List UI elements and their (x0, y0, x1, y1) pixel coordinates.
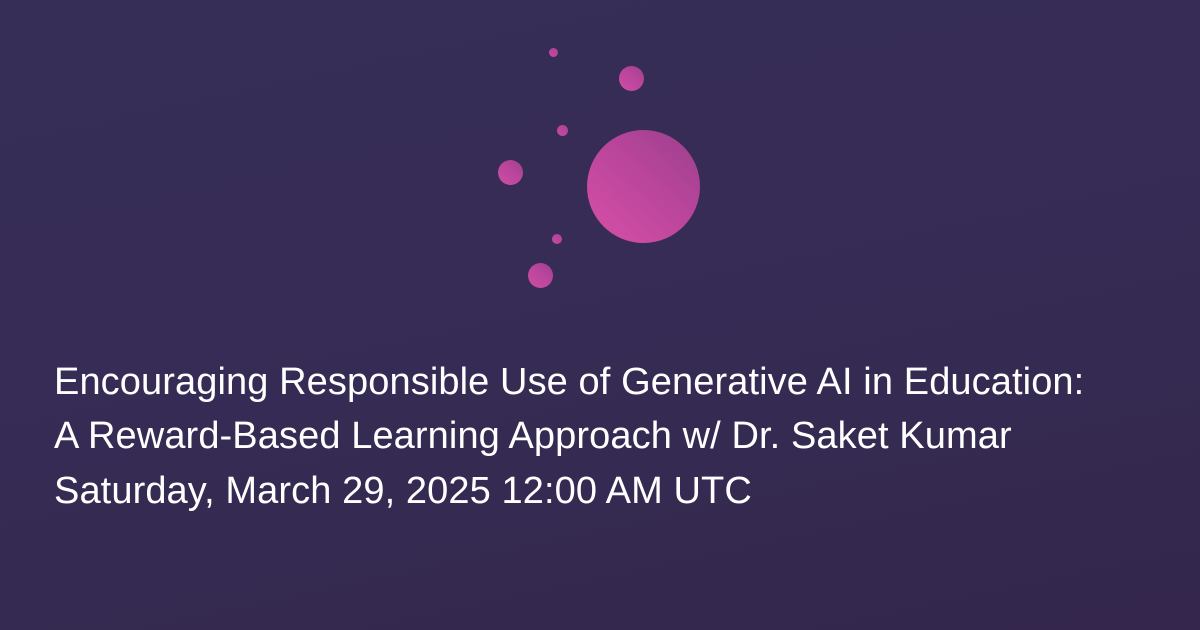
bubble-dot-top-icon (549, 48, 558, 57)
bubble-dot-middle-icon (557, 125, 568, 136)
event-title: Encouraging Responsible Use of Generativ… (54, 355, 1089, 463)
bubble-main-icon (587, 130, 700, 243)
event-details: Encouraging Responsible Use of Generativ… (54, 355, 1144, 520)
event-share-card: Encouraging Responsible Use of Generativ… (0, 0, 1200, 630)
bubble-dot-lower-icon (552, 234, 562, 244)
bubble-bottom-icon (528, 263, 553, 288)
event-date: Saturday, March 29, 2025 12:00 AM UTC (54, 463, 1144, 520)
bubble-top-right-icon (619, 66, 644, 91)
bubble-left-icon (498, 160, 523, 185)
bubbles-logo (0, 0, 1200, 330)
